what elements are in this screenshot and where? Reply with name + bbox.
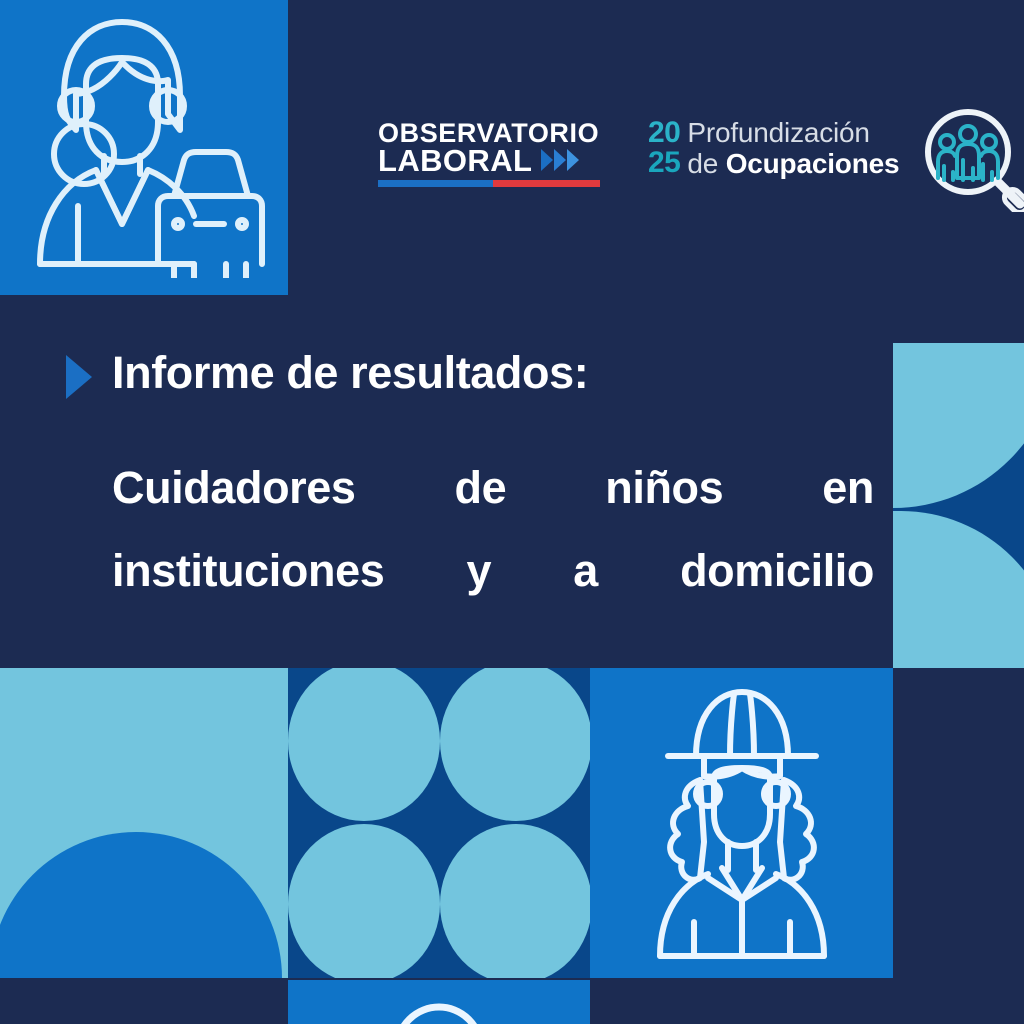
- logo-po-line2-bold: Ocupaciones: [726, 148, 900, 179]
- logo-po-year-top: 20: [648, 118, 680, 148]
- logo-po-line1: Profundización: [687, 118, 899, 148]
- circle-shape: [440, 824, 590, 978]
- logo-po-year-bottom: 25: [648, 148, 680, 178]
- decor-circles-panel: [288, 668, 590, 978]
- tile-construction-worker: [590, 668, 893, 978]
- logo-po-year: 20 25: [648, 118, 680, 178]
- logo-observatorio-laboral: OBSERVATORIO LABORAL: [378, 120, 606, 187]
- logo-profundizacion-ocupaciones: 20 25 Profundización de Ocupaciones: [648, 118, 899, 180]
- decor-dome-panel: [0, 668, 288, 978]
- circle-shape: [288, 668, 440, 821]
- page-title-line1: Informe de resultados:: [112, 347, 872, 399]
- half-circle-shape: [0, 832, 282, 978]
- chevron-triple-icon: [541, 149, 579, 171]
- magnifier-people-chart-icon: [916, 108, 1024, 212]
- circle-shape: [288, 824, 440, 978]
- report-cover: OBSERVATORIO LABORAL 20 25 Profundizació…: [0, 0, 1024, 1024]
- circle-shape: [440, 668, 590, 821]
- logo-po-line2-light: de: [687, 148, 725, 179]
- logo-ol-rule: [378, 180, 600, 187]
- page-title-line2: Cuidadores de niños en instituciones y a…: [112, 446, 874, 612]
- chevron-right-icon: [66, 355, 92, 399]
- header-logos: OBSERVATORIO LABORAL 20 25 Profundizació…: [0, 96, 1024, 196]
- quarter-circle-shape: [893, 343, 1024, 508]
- decor-wedge-panel: [893, 343, 1024, 668]
- logo-ol-line2: LABORAL: [378, 146, 532, 176]
- decor-bottom-strip: [288, 980, 590, 1024]
- quarter-circle-shape: [893, 511, 1024, 668]
